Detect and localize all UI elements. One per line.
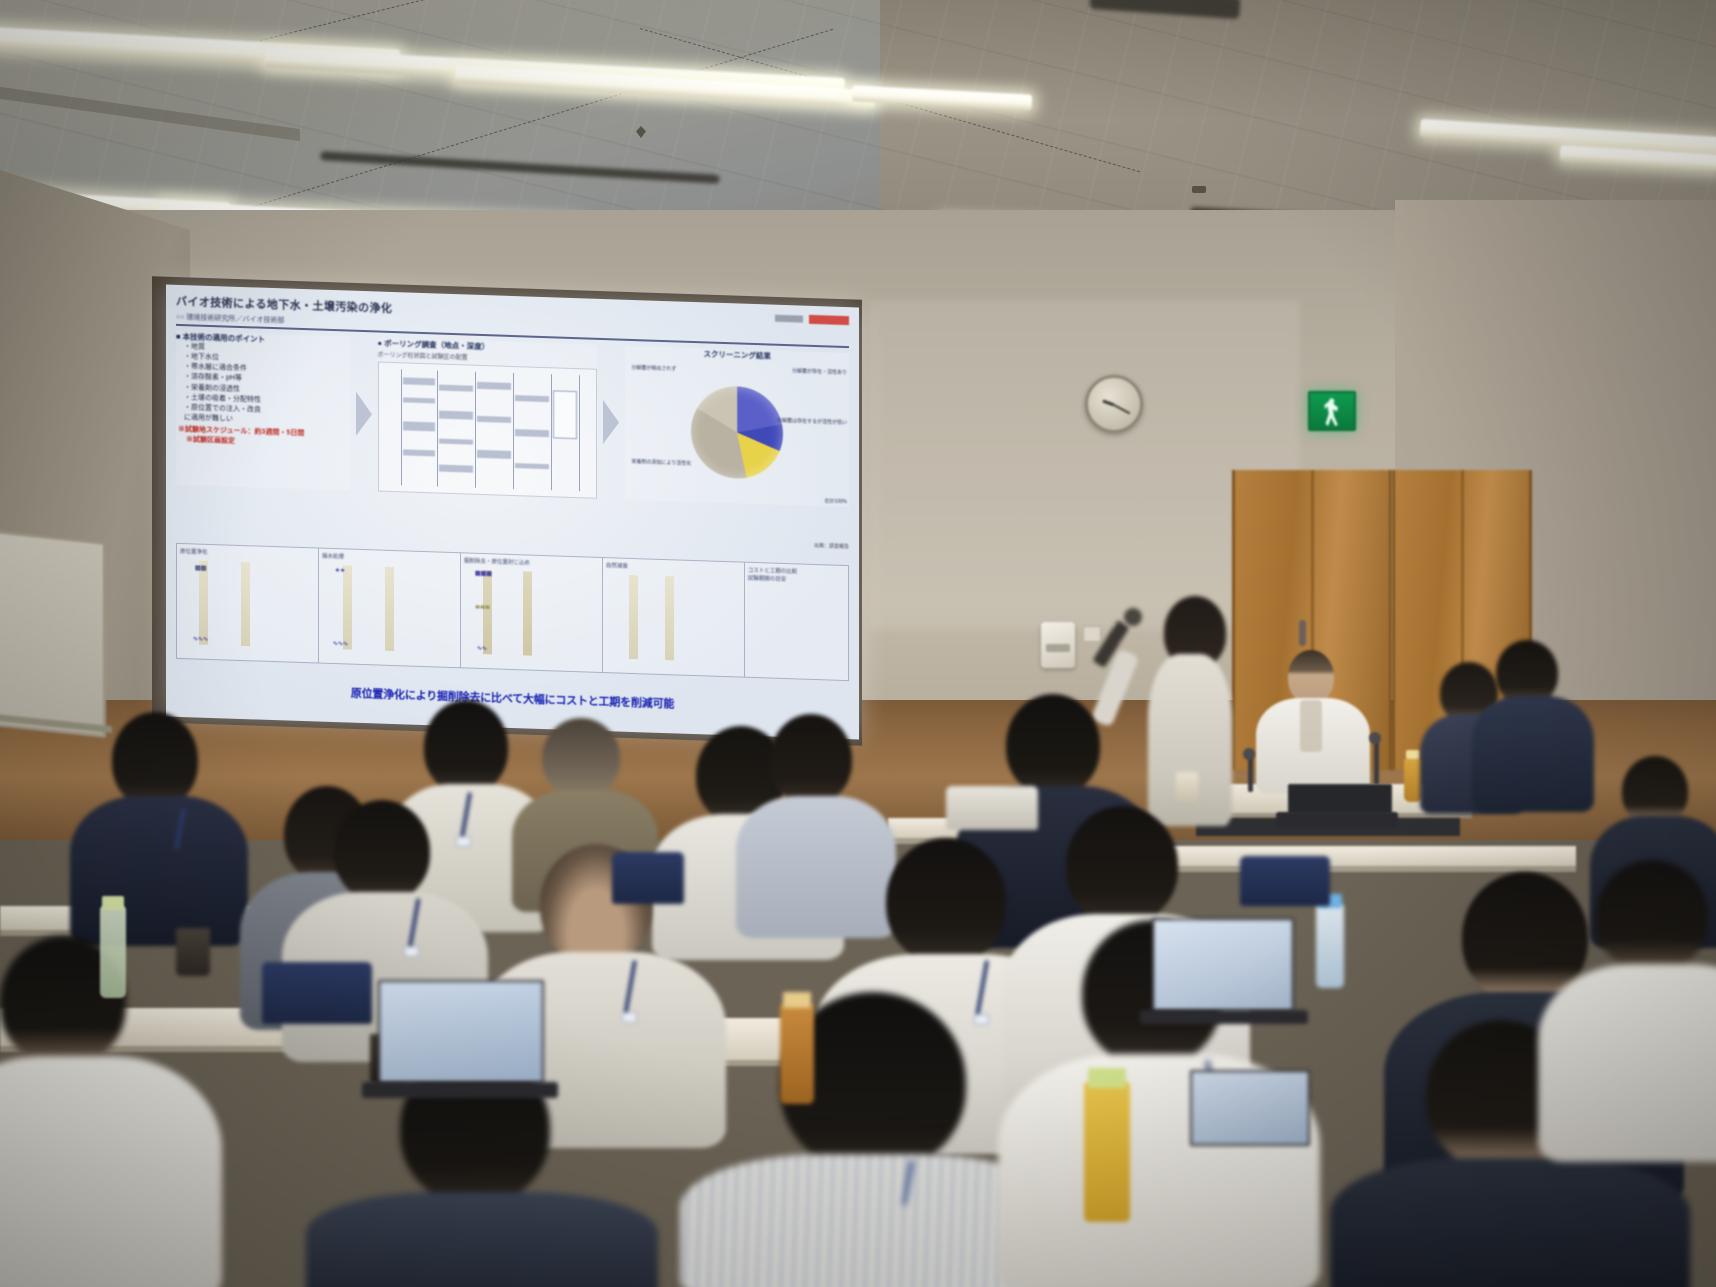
wall-whiteboard (0, 530, 106, 738)
comparison-header: 自然減衰 (606, 561, 741, 573)
attendee-head (1066, 806, 1178, 924)
header-chip-red (809, 315, 849, 325)
comparison-cell: 自然減衰 (603, 558, 745, 677)
pie-legend-label: 分解菌が存在・活性あり (775, 367, 847, 376)
attendee-head (770, 714, 852, 804)
moderator-collar (1300, 700, 1322, 752)
seated-moderator (1252, 650, 1372, 800)
comparison-cell: 原位置浄化 ▨▨ ∿∿∿ (177, 544, 319, 663)
attendee-head (424, 700, 508, 794)
green-tea-bottle[interactable] (100, 906, 126, 998)
slide-column-bullets: ■ 本技術の適用のポイント ・地質 ・地下水位 ・帯水層に適合条件 ・溶存酸素・… (176, 331, 350, 491)
table-microphone-stem (1374, 740, 1379, 784)
slide-column-diagram: ● ボーリング調査（地点・深度） ボーリング柱状図と試験区の配置 (378, 338, 598, 499)
attendee-torso (0, 1056, 222, 1287)
attendee-torso (1538, 964, 1716, 1162)
flow-arrow-right (603, 400, 619, 445)
bottle-cap (102, 896, 124, 910)
projection-screen: バイオ技術による地下水・土壌汚染の浄化 ○○ 環境技術研究所／バイオ技術部 ■ … (166, 285, 859, 740)
attendee-head (542, 718, 620, 798)
name-badge (404, 946, 419, 957)
chart-title: スクリーニング結果 (625, 346, 849, 364)
sprinkler-head (1192, 186, 1206, 193)
audience-laptop-screen[interactable] (1190, 1070, 1310, 1146)
audience-laptop-screen[interactable] (378, 980, 544, 1084)
header-chip-gray (775, 315, 803, 323)
attendee-right-far (1478, 640, 1588, 810)
attendee-head (1596, 860, 1708, 972)
attendee-head (334, 800, 430, 902)
attendee-torso (306, 1192, 658, 1287)
name-badge (622, 1012, 637, 1023)
audience-laptop-base[interactable] (362, 1082, 558, 1098)
bottle-cap (1406, 750, 1420, 759)
wall-mounted-telephone[interactable] (1041, 622, 1075, 668)
comparison-note-cell: コストと工期の比較 試験期間の目安 (745, 563, 848, 680)
table-microphone-head (1243, 748, 1255, 760)
coffee-cup[interactable] (176, 928, 210, 976)
panel-laptop-base[interactable] (1276, 812, 1398, 828)
moderator-head (1288, 650, 1334, 704)
slide-column-chart: スクリーニング結果 分解菌が検出されず 分解菌が存在・活性あり 分解菌は存在する… (625, 346, 849, 507)
clock-hand-minute (1114, 404, 1131, 414)
attendee-head (886, 838, 1006, 964)
table-microphone-head (1369, 732, 1381, 744)
comparison-header: 揚水処理 (322, 552, 457, 564)
paper-cup[interactable] (1176, 772, 1198, 802)
chair-back (1240, 856, 1330, 906)
wall-clock (1085, 375, 1143, 433)
conference-room-photo: バイオ技術による地下水・土壌汚染の浄化 ○○ 環境技術研究所／バイオ技術部 ■ … (0, 0, 1716, 1287)
door-handle[interactable] (1299, 620, 1306, 646)
presentation-slide: バイオ技術による地下水・土壌汚染の浄化 ○○ 環境技術研究所／バイオ技術部 ■ … (166, 285, 859, 740)
microphone-head (1124, 608, 1142, 626)
attendee-torso (1472, 696, 1594, 812)
comparison-cell: 掘削除去・原位置封じ込め ▩▩▩ ≋≋≋ ∿∿ (461, 553, 603, 672)
boring-log-diagram (378, 362, 598, 499)
attendee-torso (70, 796, 248, 946)
audience-member (1560, 860, 1716, 1160)
bottle-cap (783, 992, 811, 1008)
attendee-torso (1330, 1158, 1690, 1287)
emergency-exit-sign (1308, 391, 1356, 431)
table-microphone-stem (1248, 756, 1253, 792)
audience-member (0, 936, 190, 1287)
attendee-head (112, 712, 198, 808)
audience-laptop-screen[interactable] (1152, 918, 1294, 1012)
yellow-tea-bottle[interactable] (1084, 1082, 1130, 1222)
wall-switch-panel[interactable] (1083, 626, 1101, 642)
slide-body: ■ 本技術の適用のポイント ・地質 ・地下水位 ・帯水層に適合条件 ・溶存酸素・… (176, 331, 849, 507)
water-bottle-clear[interactable] (1316, 904, 1344, 988)
flow-arrow-left (356, 392, 372, 437)
slide-source-note: 出典：調査報告 (814, 542, 849, 550)
bottle-cap (1088, 1068, 1126, 1088)
audience-member-foreground (700, 992, 1040, 1287)
comparison-note: コストと工期の比較 試験期間の目安 (748, 566, 845, 585)
comparison-header: 掘削除去・原位置封じ込め (464, 556, 599, 568)
attendee-head (1006, 694, 1100, 796)
running-person-icon (1324, 398, 1340, 426)
brown-tea-bottle[interactable] (780, 1004, 814, 1104)
comparison-cell: 揚水処理 ✦✦ ∿∿∿ (319, 549, 461, 668)
chair-back (262, 962, 372, 1024)
panel-laptop-lid[interactable] (1288, 784, 1392, 814)
pie-legend-label: 分解菌が検出されず (631, 364, 705, 373)
pie-total-note: 合計100% (824, 497, 847, 505)
chair-back-light (946, 786, 1038, 830)
clock-hand-hour (1102, 400, 1114, 406)
comparison-header: 原位置浄化 (180, 547, 315, 559)
method-comparison-panel: 原位置浄化 ▨▨ ∿∿∿ 揚水処理 ✦✦ ∿∿∿ 掘 (176, 543, 849, 681)
audience-laptop-base[interactable] (1140, 1010, 1308, 1024)
chair-back (612, 852, 684, 904)
